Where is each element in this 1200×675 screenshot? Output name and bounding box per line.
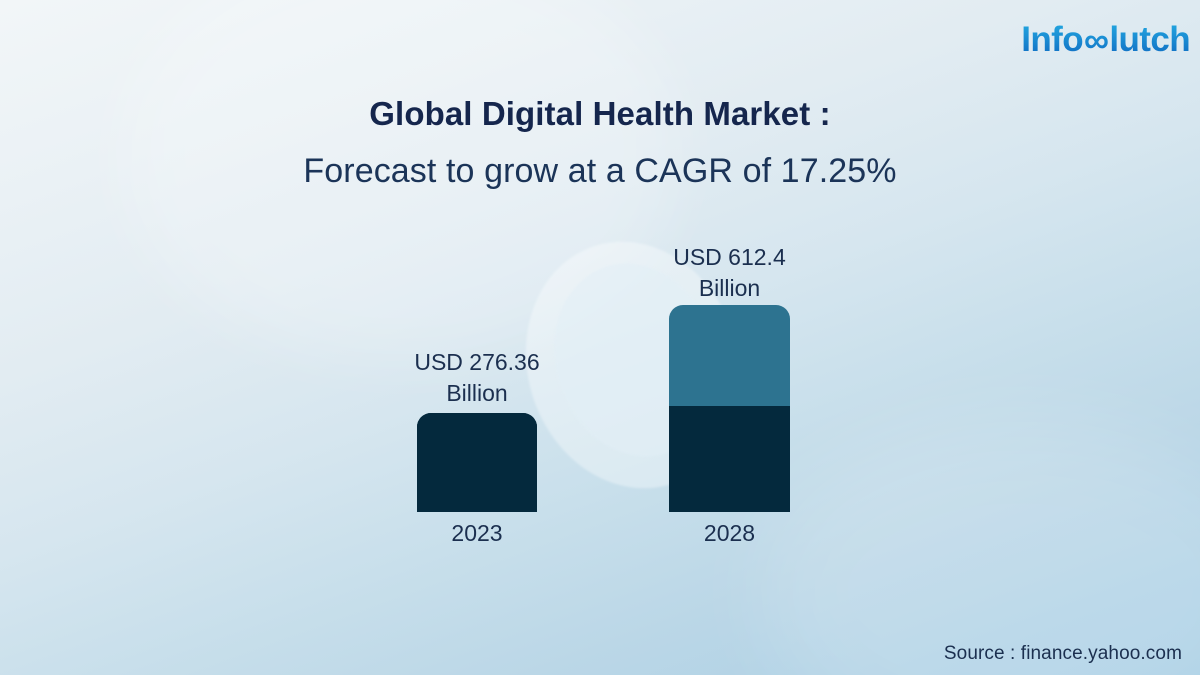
bar-group-2023: USD 276.36 Billion 2023: [417, 0, 537, 675]
bar-category-label-2023: 2023: [377, 519, 577, 547]
bar-segment-base-2028: [669, 406, 790, 512]
bar-chart: USD 276.36 Billion 2023 USD 612.4 Billio…: [0, 0, 1200, 675]
bar-segment-base-2023: [417, 413, 537, 512]
bar-category-label-2028: 2028: [630, 519, 830, 547]
bar-value-label-2023: USD 276.36 Billion: [362, 347, 592, 409]
infographic-canvas: Info∞lutch Global Digital Health Market …: [0, 0, 1200, 675]
bar-value-label-2028: USD 612.4 Billion: [615, 242, 845, 304]
bar-group-2028: USD 612.4 Billion 2028: [669, 0, 790, 675]
bar-2028[interactable]: [669, 305, 790, 512]
bar-2023[interactable]: [417, 413, 537, 512]
source-caption: Source : finance.yahoo.com: [944, 643, 1182, 665]
bar-segment-growth-2028: [669, 305, 790, 406]
